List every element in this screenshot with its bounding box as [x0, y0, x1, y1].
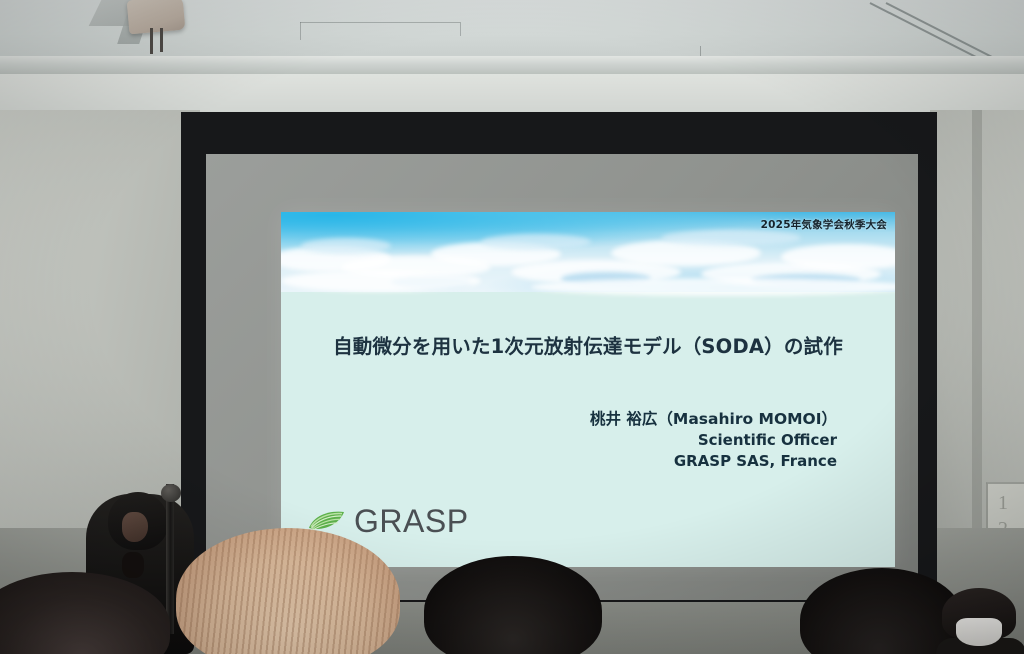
slide-author-block: 桃井 裕広（Masahiro MOMOI） Scientific Officer… [590, 408, 837, 473]
projector-mount-icon [127, 0, 186, 34]
conference-room-photo: 1 2 3 2025年気象学会秋季大会 自動微分を用いた1次元放射伝達モデル（S… [0, 0, 1024, 654]
slide-title: 自動微分を用いた1次元放射伝達モデル（SODA）の試作 [281, 330, 895, 359]
ceiling-beam [0, 56, 1024, 76]
slide-banner-image: 2025年気象学会秋季大会 [281, 212, 895, 292]
slide-header-label: 2025年気象学会秋季大会 [761, 217, 887, 232]
author-name: 桃井 裕広（Masahiro MOMOI） [590, 408, 837, 430]
wall-left [0, 110, 200, 530]
presenter-face [122, 512, 148, 542]
attendee-wearing-face-mask [934, 588, 1024, 654]
presenter-hand [122, 552, 144, 578]
face-mask-icon [956, 618, 1002, 646]
grasp-wordmark: GRASP [354, 503, 469, 540]
author-affiliation: GRASP SAS, France [590, 451, 837, 472]
wall-right-trim [972, 110, 982, 580]
author-role: Scientific Officer [590, 430, 837, 451]
projected-slide: 2025年気象学会秋季大会 自動微分を用いた1次元放射伝達モデル（SODA）の試… [281, 212, 895, 567]
ceiling [0, 0, 1024, 62]
microphone-icon [161, 484, 181, 502]
